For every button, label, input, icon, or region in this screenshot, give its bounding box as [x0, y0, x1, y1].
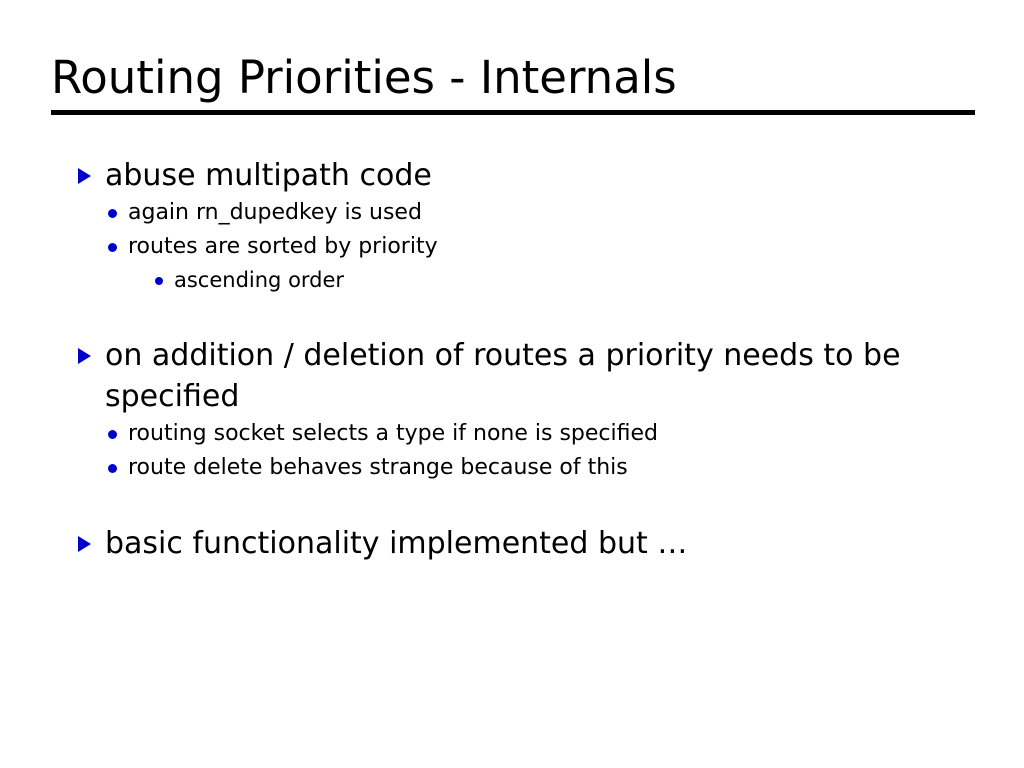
- triangle-right-bullet-icon: [78, 348, 91, 364]
- bullet-item-level1: basic functionality implemented but …: [0, 523, 1024, 564]
- triangle-right-bullet-icon: [78, 168, 91, 184]
- bullet-item-level3: ascending order: [0, 264, 1024, 297]
- bullet-text: on addition / deletion of routes a prior…: [105, 335, 964, 417]
- bullet-text: route delete behaves strange because of …: [128, 451, 964, 485]
- bullet-item-level2: again rn_dupedkey is used: [0, 196, 1024, 230]
- bullet-text: routing socket selects a type if none is…: [128, 417, 964, 451]
- bullet-group: abuse multipath code again rn_dupedkey i…: [0, 155, 1024, 297]
- round-bullet-icon: [108, 209, 117, 218]
- slide-title-block: Routing Priorities - Internals: [51, 52, 975, 115]
- bullet-text: basic functionality implemented but …: [105, 523, 964, 564]
- bullet-text: routes are sorted by priority: [128, 230, 964, 264]
- bullet-item-level2: routing socket selects a type if none is…: [0, 417, 1024, 451]
- presentation-slide: Routing Priorities - Internals abuse mul…: [0, 0, 1024, 768]
- bullet-text: abuse multipath code: [105, 155, 964, 196]
- bullet-item-level2: routes are sorted by priority: [0, 230, 1024, 264]
- slide-body: abuse multipath code again rn_dupedkey i…: [0, 155, 1024, 564]
- triangle-right-bullet-icon: [78, 536, 91, 552]
- bullet-item-level1: abuse multipath code: [0, 155, 1024, 196]
- round-bullet-icon: [108, 243, 117, 252]
- bullet-text: again rn_dupedkey is used: [128, 196, 964, 230]
- page-title: Routing Priorities - Internals: [51, 52, 975, 104]
- bullet-item-level2: route delete behaves strange because of …: [0, 451, 1024, 485]
- bullet-group: on addition / deletion of routes a prior…: [0, 335, 1024, 485]
- bullet-group: basic functionality implemented but …: [0, 523, 1024, 564]
- bullet-text: ascending order: [174, 264, 964, 297]
- round-bullet-icon: [155, 277, 163, 285]
- round-bullet-icon: [108, 464, 117, 473]
- round-bullet-icon: [108, 430, 117, 439]
- bullet-item-level1: on addition / deletion of routes a prior…: [0, 335, 1024, 417]
- title-divider: [51, 110, 975, 115]
